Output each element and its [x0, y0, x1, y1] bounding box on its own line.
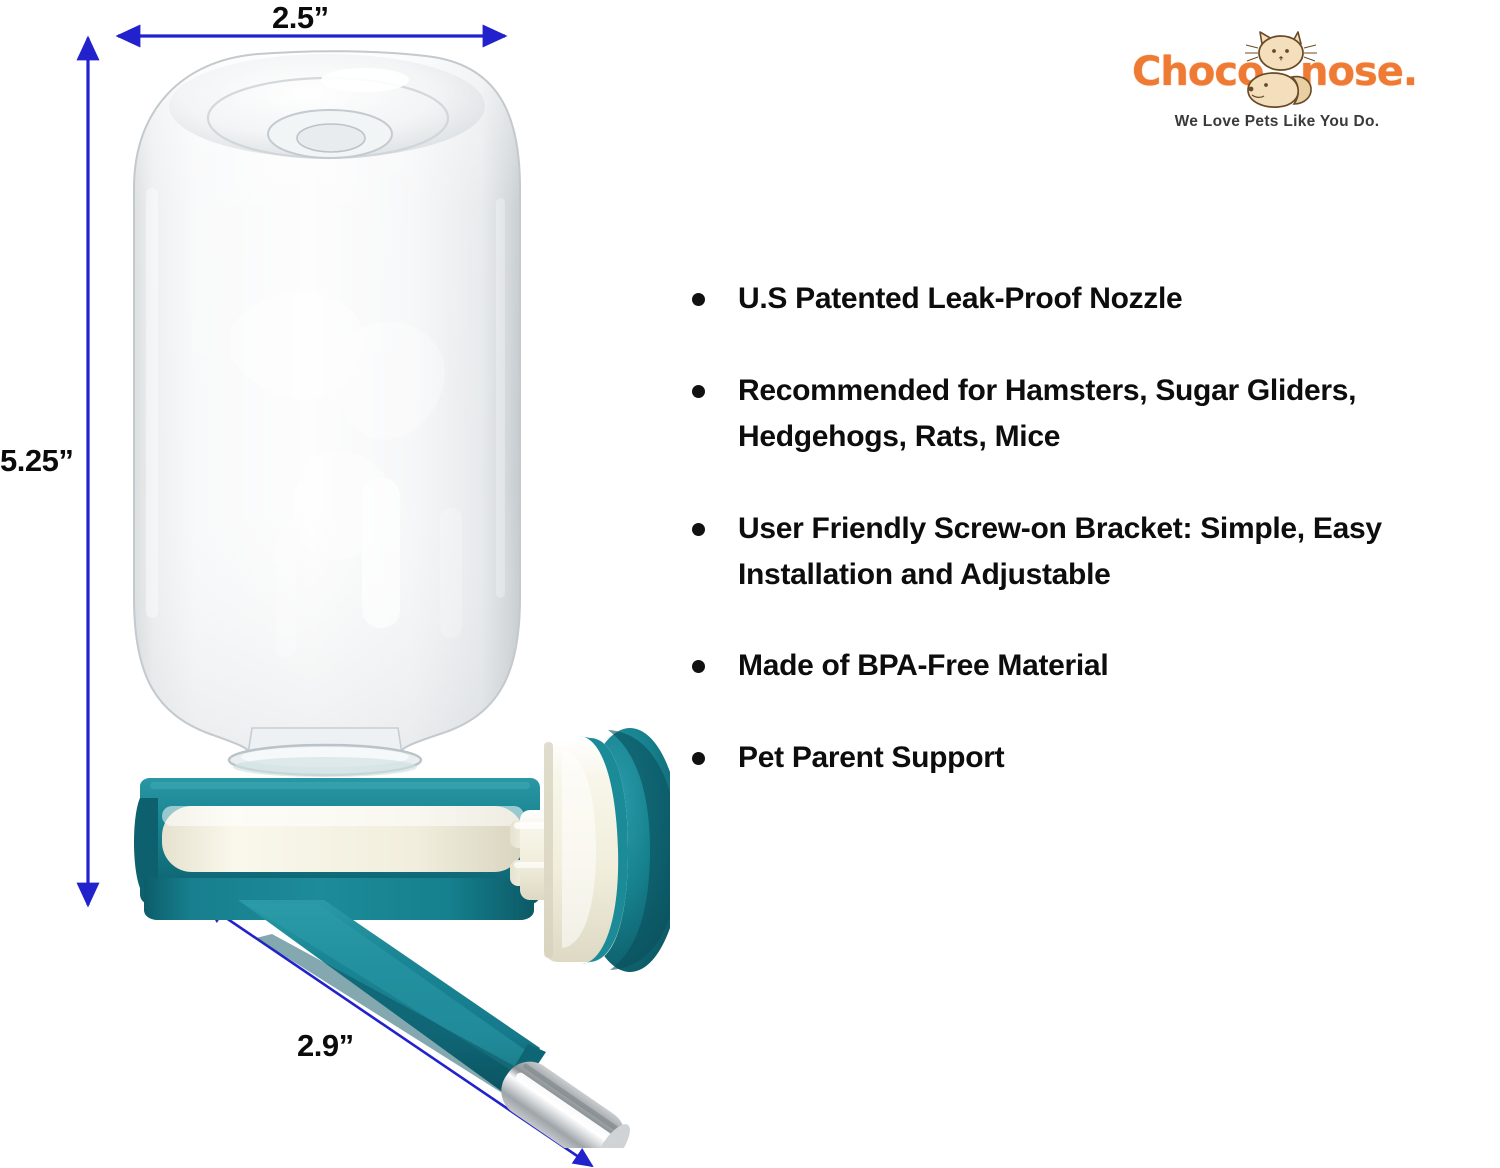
bullet-icon — [692, 660, 705, 673]
product-image — [110, 38, 670, 1148]
logo-wordmark: Choco nose. — [1128, 30, 1418, 112]
bullet-icon — [692, 385, 705, 398]
bullet-icon — [692, 752, 705, 765]
height-dimension-label: 5.25” — [0, 445, 73, 476]
bottle-neck — [229, 728, 421, 777]
dog-head-icon — [1248, 73, 1311, 107]
bullet-icon — [692, 523, 705, 536]
feature-item-2: Recommended for Hamsters, Sugar Gliders,… — [688, 368, 1500, 460]
width-dimension-label: 2.5” — [272, 2, 329, 33]
feature-item-4: Made of BPA-Free Material — [688, 643, 1500, 689]
feature-text: Recommended for Hamsters, Sugar Gliders,… — [738, 368, 1500, 460]
feature-item-5: Pet Parent Support — [688, 735, 1500, 781]
feature-item-3: User Friendly Screw-on Bracket: Simple, … — [688, 506, 1500, 598]
wall-mount-disc — [544, 728, 670, 972]
bracket-clamp — [134, 778, 540, 920]
logo-tagline: We Love Pets Like You Do. — [1144, 114, 1410, 130]
infographic-canvas: 2.5” 5.25” 2.9” — [0, 0, 1500, 1168]
cat-face-icon — [1245, 32, 1317, 70]
feature-text: U.S Patented Leak-Proof Nozzle — [738, 276, 1500, 322]
bottle-dome-top — [169, 54, 485, 158]
drinking-tube — [238, 900, 546, 1100]
feature-list: U.S Patented Leak-Proof Nozzle Recommend… — [688, 276, 1500, 827]
feature-item-1: U.S Patented Leak-Proof Nozzle — [688, 276, 1500, 322]
feature-text: Made of BPA-Free Material — [738, 643, 1500, 689]
feature-text: User Friendly Screw-on Bracket: Simple, … — [738, 506, 1500, 598]
logo-pet-illustrations — [1240, 30, 1318, 112]
brand-logo: Choco nose. — [1128, 30, 1418, 140]
feature-text: Pet Parent Support — [738, 735, 1500, 781]
bullet-icon — [692, 293, 705, 306]
